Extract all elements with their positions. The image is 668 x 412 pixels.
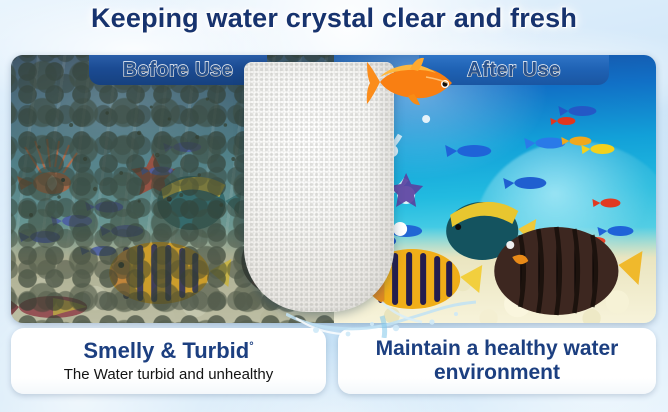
before-caption-card: Smelly & Turbid° The Water turbid and un… bbox=[11, 328, 326, 394]
goldfish-icon bbox=[366, 57, 462, 109]
dark-striped-fish-icon bbox=[494, 227, 642, 315]
water-splash-icon bbox=[286, 296, 476, 338]
after-use-label: After Use bbox=[467, 59, 560, 82]
page-title: Keeping water crystal clear and fresh bbox=[0, 3, 668, 34]
degree-mark: ° bbox=[249, 341, 253, 353]
before-use-label: Before Use bbox=[123, 59, 234, 82]
before-caption-title: Smelly & Turbid° bbox=[83, 339, 253, 362]
after-caption-title: Maintain a healthy water environment bbox=[338, 337, 656, 384]
before-caption-title-text: Smelly & Turbid bbox=[83, 338, 249, 363]
promo-image: Keeping water crystal clear and fresh bbox=[0, 0, 668, 412]
before-caption-subtitle: The Water turbid and unhealthy bbox=[64, 366, 274, 383]
before-use-banner: Before Use bbox=[89, 55, 267, 85]
